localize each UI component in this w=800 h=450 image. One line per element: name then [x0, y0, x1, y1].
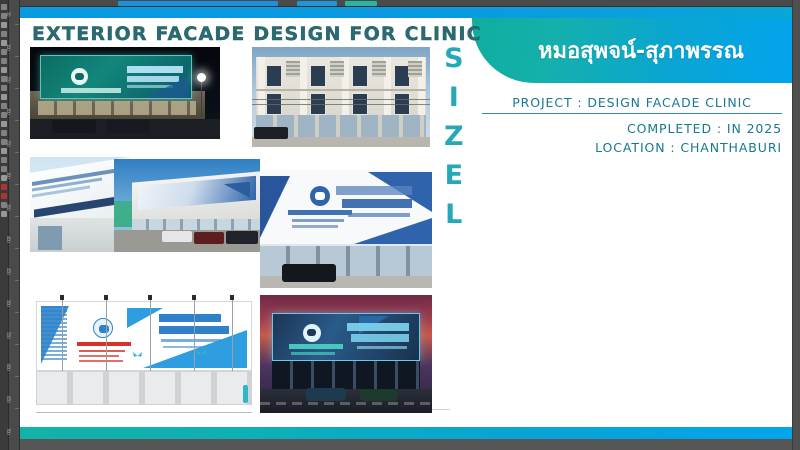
ruler-tick: 150: [6, 76, 11, 84]
sign-text-line: [61, 88, 121, 93]
document-tab-active[interactable]: [118, 1, 278, 6]
sign-text-line: [347, 323, 409, 331]
louver-panel: [372, 61, 386, 77]
document-tab-second[interactable]: [297, 1, 337, 6]
ruler-line: [15, 280, 19, 281]
clinic-logo-icon: [93, 318, 113, 338]
ruler-line: [15, 120, 19, 121]
bottom-accent-bar: [20, 427, 792, 439]
sign-triangle-graphic: [145, 76, 189, 98]
project-line: PROJECT : DESIGN FACADE CLINIC: [482, 95, 782, 114]
image-editor-window: 50 100 150 200 250 300 350 400 450 500 5…: [0, 0, 800, 450]
ruler-tick: 200: [6, 108, 11, 116]
louver-panel: [330, 61, 344, 77]
sign-text-line: [292, 219, 344, 222]
parked-vehicle: [254, 127, 288, 139]
louver-panel: [408, 61, 422, 77]
window: [310, 65, 326, 87]
dimension-line: [106, 300, 107, 372]
healing-brush-tool-icon[interactable]: [1, 58, 7, 64]
louver-panel: [286, 61, 300, 77]
facade-column: [300, 57, 307, 117]
brand-vertical-lettering: S I Z E L: [444, 45, 464, 228]
ruler-line: [15, 344, 19, 345]
dimension-line: [232, 300, 233, 372]
shopfront-elevation: [36, 371, 252, 405]
path-selection-tool-icon[interactable]: [1, 148, 7, 154]
parked-vehicle: [226, 231, 258, 244]
illuminated-signboard: [40, 55, 192, 99]
dimension-line: [150, 300, 151, 372]
street-lamp-icon: [197, 73, 206, 82]
window: [352, 65, 368, 87]
shape-tool-icon[interactable]: [1, 157, 7, 163]
sign-text-line: [161, 339, 221, 342]
sign-text-line: [348, 213, 410, 217]
window: [266, 65, 282, 87]
ruler-tick: 300: [6, 172, 11, 180]
eraser-tool-icon[interactable]: [1, 94, 7, 100]
ruler-line: [15, 88, 19, 89]
photo-elevation-drawing[interactable]: [30, 295, 258, 413]
dodge-tool-icon[interactable]: [1, 121, 7, 127]
sign-text-line: [336, 186, 412, 195]
sign-text-line-red: [79, 355, 119, 357]
sign-text-line: [159, 314, 221, 322]
power-line: [252, 99, 430, 100]
photo-night-lit-facade[interactable]: [30, 47, 220, 139]
sign-text-line: [291, 352, 335, 355]
parked-vehicle: [52, 120, 96, 133]
history-brush-tool-icon[interactable]: [1, 85, 7, 91]
dimension-line: [62, 300, 63, 372]
clinic-logo-icon: [71, 68, 88, 85]
sign-text-line: [127, 66, 183, 73]
ruler-tick: 250: [6, 140, 11, 148]
butterfly-icon: [133, 352, 142, 360]
ruler-line: [15, 56, 19, 57]
sign-text-line: [351, 334, 409, 342]
ruler-tick: 600: [6, 364, 11, 372]
ruler-line: [15, 376, 19, 377]
ruler-line: [15, 152, 19, 153]
sign-halftone-graphic: [41, 306, 67, 362]
pen-tool-icon[interactable]: [1, 130, 7, 136]
sign-triangle-graphic: [127, 308, 163, 328]
brand-letter: L: [445, 201, 462, 228]
sign-text-line: [288, 210, 352, 215]
floor-line: [256, 89, 426, 91]
completed-line: COMPLETED : IN 2025: [482, 121, 782, 136]
sign-triangle-graphic: [224, 182, 250, 200]
panel-gutter: [792, 0, 800, 450]
parked-vehicle: [106, 120, 150, 133]
clinic-logo-icon: [310, 186, 330, 206]
vertical-ruler: 50 100 150 200 250 300 350 400 450 500 5…: [9, 0, 20, 450]
parking-marking: [260, 402, 432, 405]
brush-tool-icon[interactable]: [1, 67, 7, 73]
lamp-pole: [201, 81, 202, 117]
signboard-elevation: [36, 301, 252, 371]
sign-text-line-red: [79, 350, 125, 352]
tool-palette[interactable]: [0, 0, 9, 450]
parked-vehicle: [360, 389, 398, 401]
ruler-tick: 500: [6, 300, 11, 308]
ruler-tick: 50: [6, 12, 11, 20]
ruler-tick: 450: [6, 268, 11, 276]
foreground-color-swatch[interactable]: [1, 184, 7, 190]
shopfront-glazing: [272, 361, 420, 389]
parked-vehicle: [194, 232, 224, 244]
parked-vehicle: [306, 388, 346, 401]
brand-letter: Z: [444, 123, 464, 150]
sign-text-line: [292, 225, 338, 228]
clinic-logo-icon: [303, 324, 321, 342]
brand-letter: E: [445, 162, 463, 189]
dimension-line: [194, 300, 195, 372]
sign-text-line-red: [77, 342, 131, 346]
ruler-line: [15, 248, 19, 249]
ruler-line: [15, 184, 19, 185]
magic-wand-tool-icon[interactable]: [1, 31, 7, 37]
photo-street-wide[interactable]: [114, 159, 260, 252]
ruler-tick: 650: [6, 396, 11, 404]
top-accent-bar: [20, 7, 792, 18]
sign-text-line: [163, 346, 203, 348]
document-canvas[interactable]: หมอสุพจน์-สุภาพรรณ EXTERIOR FACADE DESIG…: [20, 7, 792, 439]
ruler-line: [15, 216, 19, 217]
lasso-tool-icon[interactable]: [1, 22, 7, 28]
ruler-tick: 400: [6, 236, 11, 244]
scale-figure-icon: [243, 385, 248, 403]
document-tab-third[interactable]: [345, 1, 377, 6]
background-color-swatch[interactable]: [1, 193, 7, 199]
clinic-name-thai: หมอสุพจน์-สุภาพรรณ: [520, 33, 744, 68]
shopfront-glazing: [38, 101, 196, 115]
entrance-door: [38, 226, 62, 250]
photo-original-building[interactable]: [252, 47, 430, 147]
ruler-line: [15, 312, 19, 313]
header-panel: หมอสุพจน์-สุภาพรรณ: [472, 18, 792, 83]
document-tab-strip[interactable]: [20, 0, 800, 7]
facade-column: [258, 57, 265, 117]
sign-text-line: [357, 346, 407, 349]
sign-text-line: [289, 344, 343, 349]
brand-letter: S: [444, 45, 463, 72]
ruler-tick: 100: [6, 44, 11, 52]
sign-text-line-red: [79, 360, 123, 362]
ruler-line: [15, 24, 19, 25]
move-tool-icon[interactable]: [1, 4, 7, 10]
photo-finished-daytime[interactable]: [260, 170, 432, 288]
power-line: [252, 104, 430, 105]
forecourt: [260, 389, 432, 413]
ruler-tick: 550: [6, 332, 11, 340]
brand-letter: I: [449, 84, 459, 111]
parked-vehicle: [282, 264, 336, 282]
sign-triangle-graphic: [260, 176, 290, 238]
dimension-line: [36, 412, 252, 413]
project-info-block: PROJECT : DESIGN FACADE CLINIC COMPLETED…: [482, 95, 782, 155]
ruler-tick: 700: [6, 428, 11, 436]
page-title: EXTERIOR FACADE DESIGN FOR CLINIC: [32, 23, 482, 45]
location-line: LOCATION : CHANTHABURI: [482, 140, 782, 155]
photo-3d-render-night[interactable]: [260, 295, 432, 413]
ruler-tick: 350: [6, 204, 11, 212]
parked-vehicle: [162, 231, 192, 242]
illuminated-signboard: [272, 313, 420, 361]
sign-text-line: [342, 199, 412, 208]
ruler-line: [15, 408, 19, 409]
